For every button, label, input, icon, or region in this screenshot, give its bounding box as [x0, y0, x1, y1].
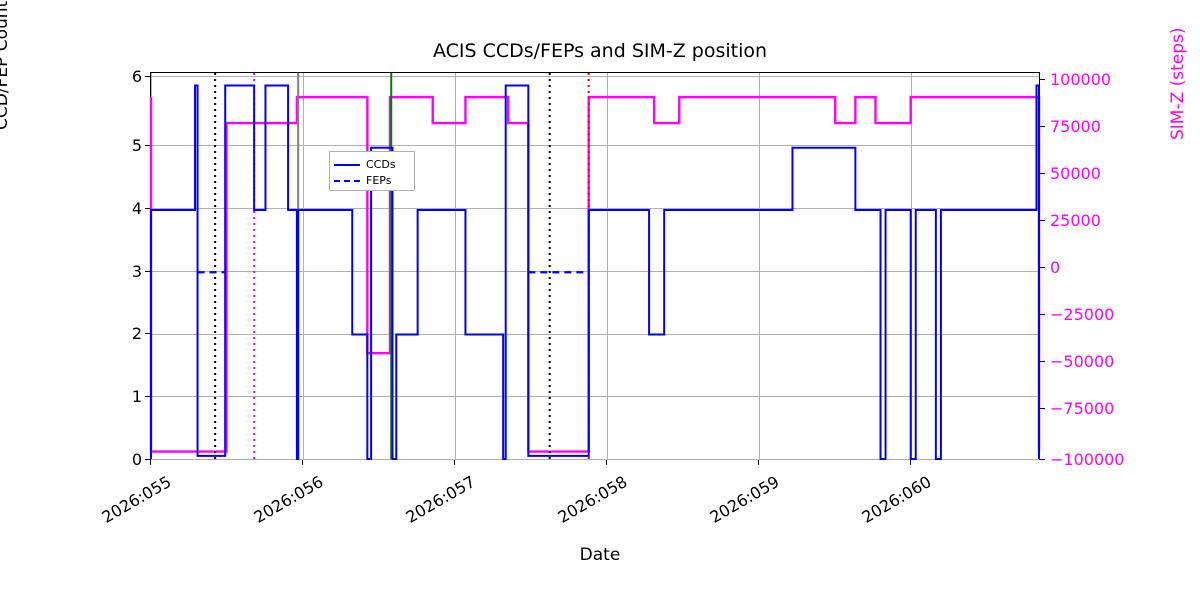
y-tick-left-6: 6 [102, 69, 142, 85]
vertical-markers [215, 73, 589, 459]
ccds-series [151, 85, 1039, 459]
y-tick-right-4: 0 [1050, 260, 1160, 276]
y-tick-right-6: 50000 [1050, 166, 1160, 182]
y-tick-right-7: 75000 [1050, 119, 1160, 135]
y-axis-label-right: SIM-Z (steps) [1168, 27, 1188, 140]
y-tick-left-1: 1 [102, 389, 142, 405]
legend-label-ccds: CCDs [366, 158, 396, 171]
chart-root: ACIS CCDs/FEPs and SIM-Z position CCD/FE… [0, 0, 1200, 600]
legend-entry-ccds: CCDs [334, 158, 414, 172]
legend-swatch-ccds [334, 164, 360, 166]
y-tick-left-3: 3 [102, 264, 142, 280]
y-tick-right-3: −25000 [1050, 307, 1160, 323]
y-tick-right-8: 100000 [1050, 72, 1160, 88]
y-tick-right-5: 25000 [1050, 213, 1160, 229]
legend-swatch-feps [334, 180, 360, 182]
legend: CCDs FEPs [329, 151, 415, 191]
series-canvas [151, 73, 1039, 459]
y-tick-left-4: 4 [102, 201, 142, 217]
simz-series [151, 97, 1039, 451]
y-tick-left-0: 0 [102, 452, 142, 468]
y-tick-left-2: 2 [102, 326, 142, 342]
y-tick-left-5: 5 [102, 138, 142, 154]
legend-label-feps: FEPs [366, 174, 391, 187]
legend-entry-feps: FEPs [334, 174, 414, 188]
plot-area: CCDs FEPs [150, 72, 1040, 460]
y-tick-right-1: −75000 [1050, 401, 1160, 417]
y-tick-right-0: −100000 [1050, 452, 1160, 468]
y-tick-right-2: −50000 [1050, 354, 1160, 370]
y-axis-label-left: CCD/FEP Count [0, 1, 12, 130]
chart-title: ACIS CCDs/FEPs and SIM-Z position [0, 40, 1200, 62]
